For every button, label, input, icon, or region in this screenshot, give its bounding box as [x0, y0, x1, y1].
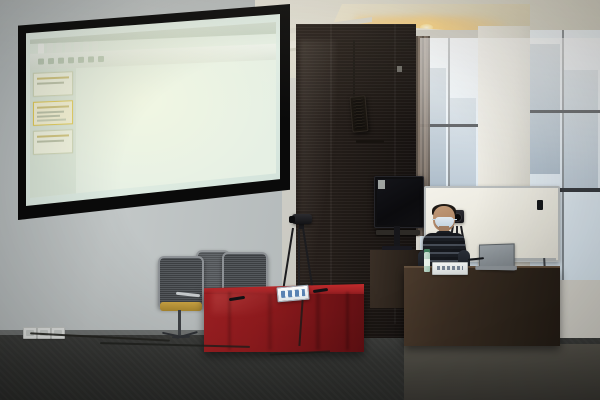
slide-thumbnail-panel[interactable]	[30, 68, 76, 198]
table-tent-card	[276, 285, 309, 303]
building-shape	[564, 70, 598, 190]
tent-card-text	[281, 289, 306, 298]
office-chair-1-back[interactable]	[158, 256, 204, 308]
align-tool-icon[interactable]	[58, 58, 64, 64]
mask-strap	[453, 219, 457, 220]
insert-tool-icon[interactable]	[88, 56, 94, 62]
tv-stand	[394, 226, 400, 248]
presentation-app-window[interactable]	[30, 22, 276, 198]
desk-name-plate	[432, 262, 468, 275]
wall-rail	[356, 140, 384, 143]
office-chair-1-post	[178, 310, 181, 336]
slide-thumbnail-1[interactable]	[33, 71, 73, 97]
tripod-leg	[298, 228, 300, 286]
carpet-floor-right	[404, 344, 600, 400]
whiteboard-clip	[537, 200, 543, 210]
video-camera-front	[292, 214, 312, 224]
font-tool-icon[interactable]	[38, 58, 44, 64]
bold-tool-icon[interactable]	[48, 58, 54, 64]
ribbon-tab-2[interactable]	[47, 43, 53, 53]
window-mullion	[528, 110, 600, 113]
building-shape	[450, 98, 476, 198]
wall-sign	[397, 66, 402, 72]
speaker-mount-arm	[353, 40, 355, 100]
ribbon-tab-1[interactable]	[38, 43, 44, 53]
ribbon-tab-3[interactable]	[56, 43, 62, 53]
ribbon-tab-6[interactable]	[83, 42, 89, 52]
presenter-desk	[404, 268, 560, 346]
layout-tool-icon[interactable]	[98, 56, 104, 62]
camera-lens-icon	[289, 216, 295, 223]
shape-tool-icon[interactable]	[68, 57, 74, 63]
conference-room-photo	[0, 0, 600, 400]
speaker-grill-icon	[353, 99, 366, 130]
office-chair-1-seat[interactable]	[160, 302, 202, 311]
ribbon-tab-5[interactable]	[74, 42, 80, 52]
window-mullion	[562, 30, 564, 280]
wall-speaker	[349, 95, 368, 132]
building-shape	[530, 44, 560, 174]
slide-thumbnail-2[interactable]	[33, 100, 73, 126]
drape-fold	[268, 294, 272, 350]
drape-fold	[346, 292, 349, 350]
ribbon-tab-7[interactable]	[92, 41, 98, 51]
slide-thumbnail-3[interactable]	[33, 129, 73, 155]
name-plate-text	[437, 266, 463, 270]
drape-fold	[316, 292, 320, 350]
color-tool-icon[interactable]	[78, 57, 84, 63]
laptop-keyboard[interactable]	[475, 266, 517, 270]
bottle-label	[424, 259, 430, 266]
tv-badge	[378, 180, 385, 189]
ribbon-tab-4[interactable]	[65, 42, 71, 52]
mask-strap	[432, 219, 436, 220]
